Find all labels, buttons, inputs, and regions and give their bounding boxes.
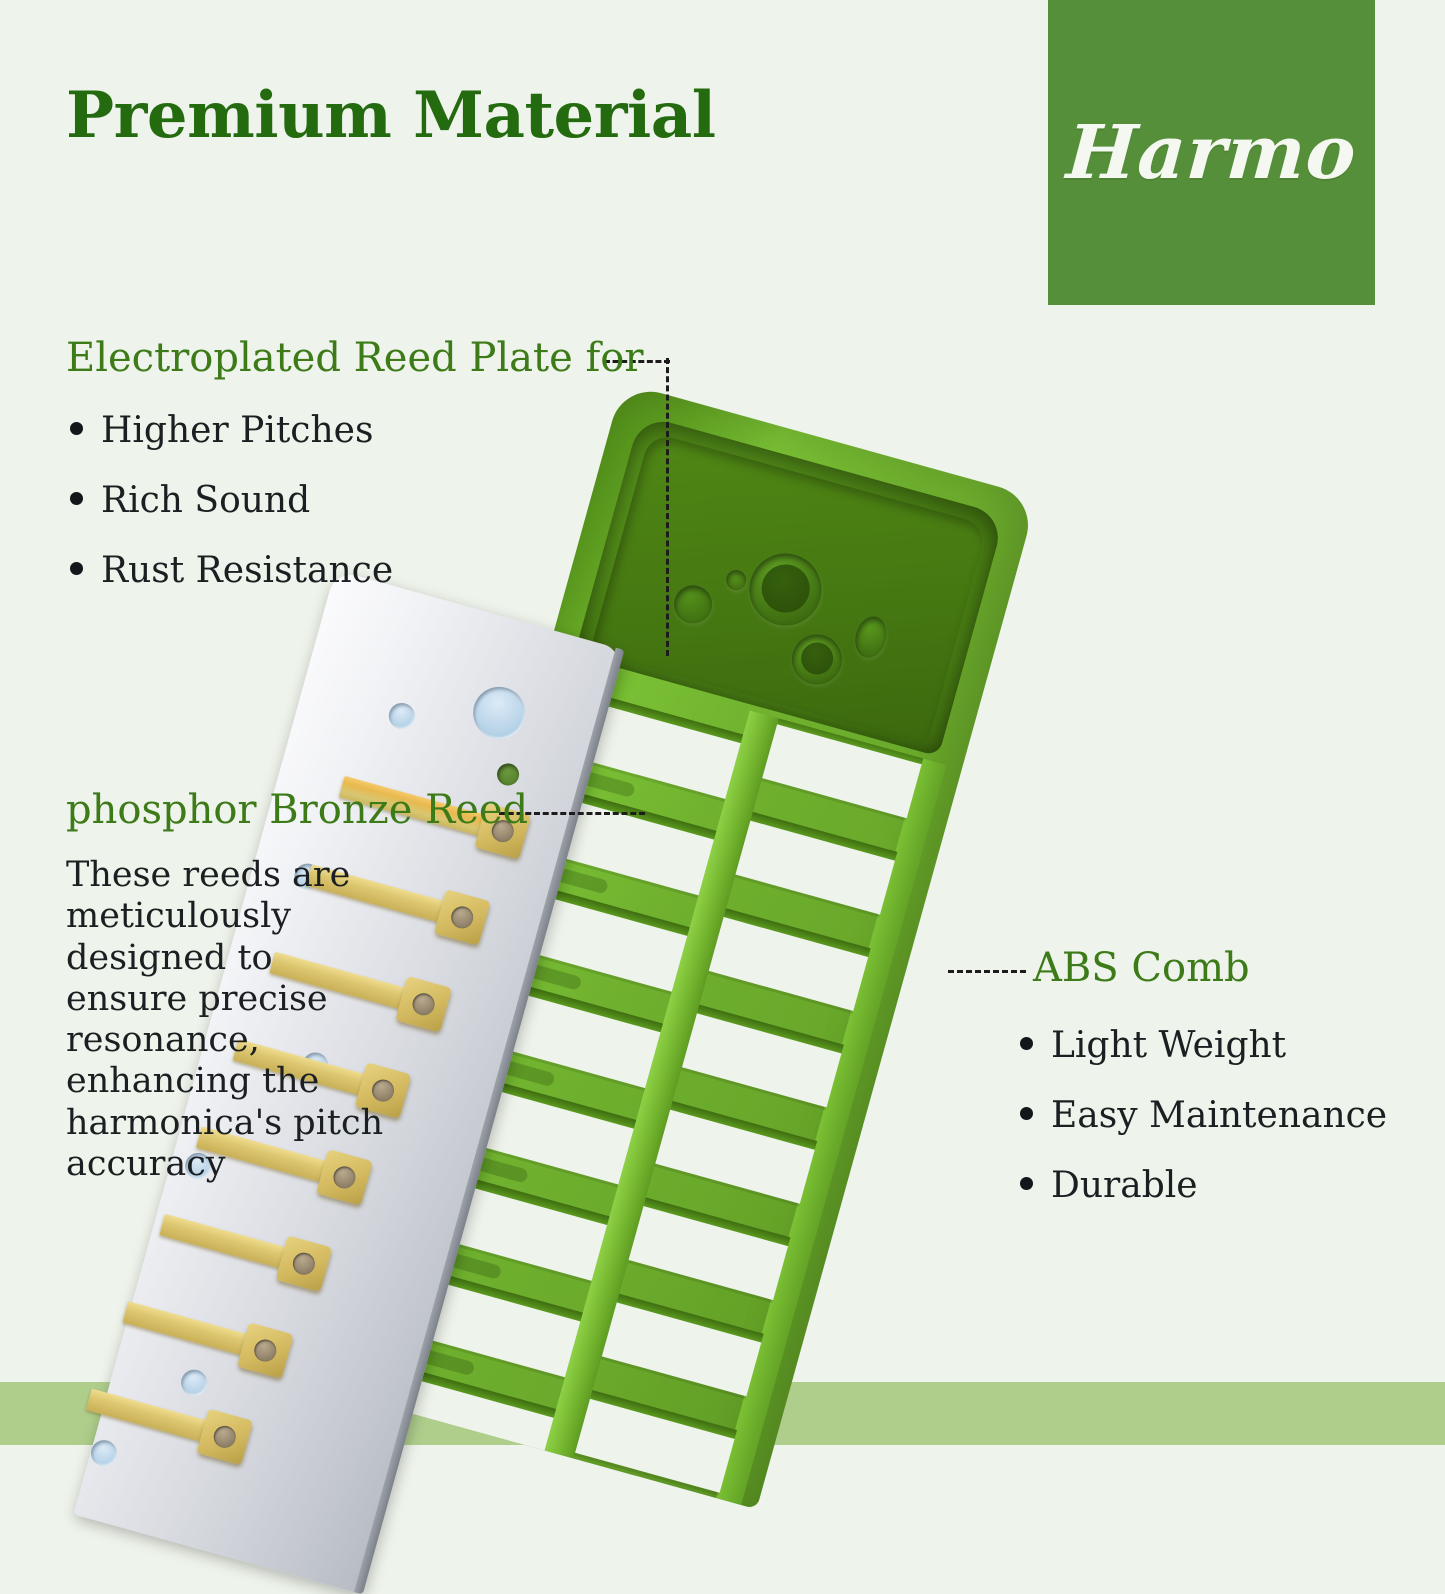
comb-rail-middle [545, 710, 779, 1458]
list-item: Rust Resistance [70, 550, 393, 591]
list-item-label: Rich Sound [101, 480, 310, 521]
brand-logo-text: Harmo [1064, 110, 1360, 196]
reed-plate-hole [467, 681, 531, 745]
comb-slot [735, 821, 895, 915]
bullet-dot-icon [1020, 1037, 1033, 1050]
list-item-label: Easy Maintenance [1051, 1095, 1387, 1136]
list-item-label: Higher Pitches [101, 410, 373, 451]
bullet-dot-icon [1020, 1107, 1033, 1120]
comb-slot [655, 1110, 815, 1204]
comb-rung-notch [420, 1348, 476, 1376]
bullet-dot-icon [1020, 1177, 1033, 1190]
comb-boss-oval [851, 613, 891, 661]
bullet-dot-icon [70, 492, 83, 505]
comb-slot [682, 1013, 842, 1107]
list-item-label: Light Weight [1051, 1025, 1286, 1066]
comb-boss-small-left [670, 581, 717, 628]
comb-rung-notch [580, 770, 636, 798]
bronze-reed [159, 1214, 313, 1276]
comb-rung-notch [393, 1445, 449, 1473]
comb-slot [762, 724, 922, 818]
reed-rivet [434, 889, 491, 946]
comb-rung-notch [500, 1059, 556, 1087]
list-item: Light Weight [1020, 1025, 1387, 1066]
comb-rung-notch [446, 1252, 502, 1280]
brand-logo: Harmo [1048, 0, 1375, 305]
comb-rung-notch [553, 867, 609, 895]
abs-comb-graphic [342, 383, 1037, 1510]
comb-slot [432, 1181, 607, 1281]
comb-slot [539, 795, 714, 895]
list-item: Rich Sound [70, 480, 393, 521]
bronze-reed [123, 1301, 275, 1363]
comb-slot [565, 699, 740, 799]
leader-line-abs-comb [948, 970, 1026, 973]
comb-cavity-rim [590, 432, 988, 745]
comb-body [342, 383, 1037, 1510]
callout-heading-abs-comb: ABS Comb [1033, 945, 1250, 991]
leader-line-reed-plate-vertical [666, 358, 669, 656]
list-item: Higher Pitches [70, 410, 393, 451]
comb-slot [512, 892, 687, 992]
comb-boss-tiny [724, 568, 749, 593]
comb-slot [458, 1084, 633, 1184]
bullet-list-reed-plate: Higher Pitches Rich Sound Rust Resistanc… [70, 410, 393, 620]
comb-rung-notch [527, 963, 583, 991]
reed-rivet [395, 976, 452, 1033]
list-item: Durable [1020, 1165, 1387, 1206]
comb-rung-notch [473, 1156, 529, 1184]
bullet-dot-icon [70, 422, 83, 435]
reed-rivet [237, 1322, 294, 1379]
comb-cavity [574, 415, 1005, 757]
bullet-dot-icon [70, 562, 83, 575]
reed-rivet [276, 1235, 333, 1292]
bullet-list-abs-comb: Light Weight Easy Maintenance Durable [1020, 1025, 1387, 1235]
comb-slot [629, 1206, 789, 1300]
list-item: Easy Maintenance [1020, 1095, 1387, 1136]
comb-slot [709, 917, 869, 1011]
bottom-accent-band [0, 1382, 1445, 1445]
infographic-canvas: Premium Material Harmo Electroplated Ree… [0, 0, 1445, 1445]
page-title: Premium Material [66, 78, 716, 153]
callout-heading-bronze-reed: phosphor Bronze Reed [66, 787, 528, 833]
comb-boss-medium [786, 629, 848, 691]
callout-heading-reed-plate: Electroplated Reed Plate for [66, 335, 643, 381]
comb-slot [485, 988, 660, 1088]
comb-boss-large [741, 545, 830, 634]
reed-plate-hole [386, 700, 418, 732]
comb-slot [405, 1277, 580, 1377]
list-item-label: Rust Resistance [101, 550, 393, 591]
callout-body-bronze-reed: These reeds are meticulously designed to… [66, 855, 396, 1185]
reed-plate-hole [495, 761, 522, 788]
list-item-label: Durable [1051, 1165, 1198, 1206]
